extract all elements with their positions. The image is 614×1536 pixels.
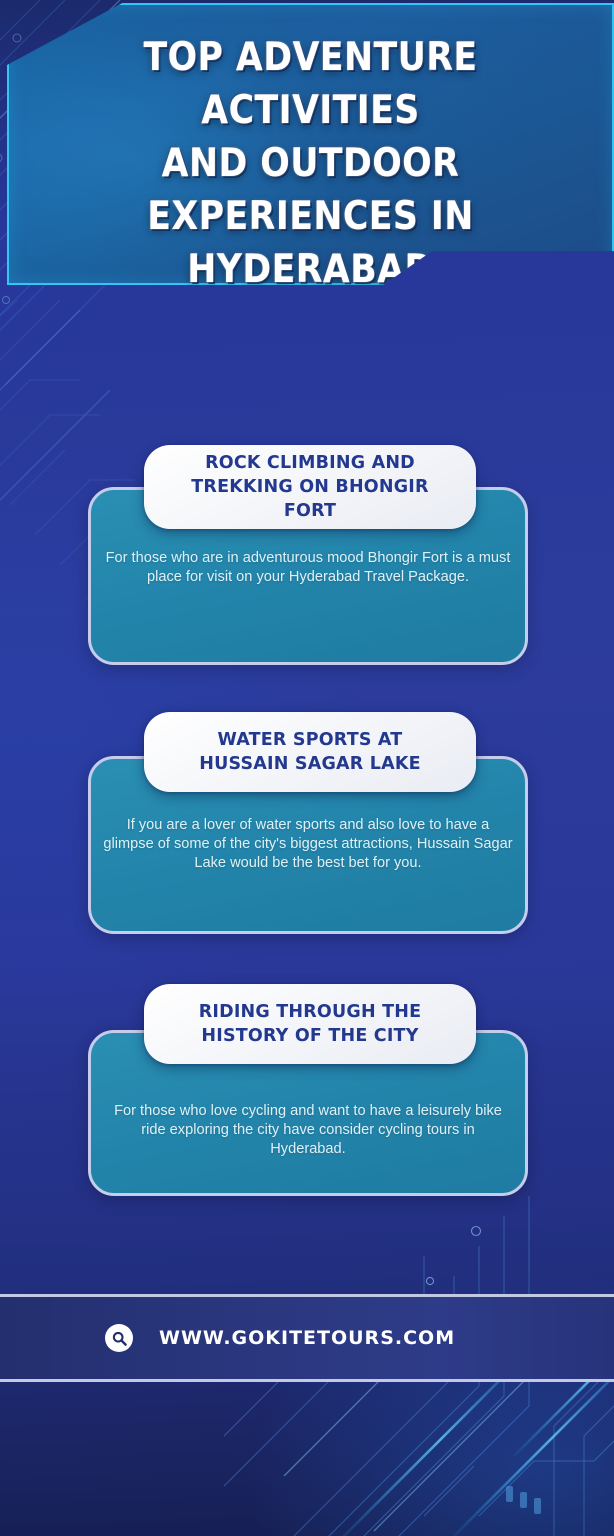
search-icon bbox=[105, 1324, 133, 1352]
card-title: RIDING THROUGH THE HISTORY OF THE CITY bbox=[189, 1000, 432, 1048]
infographic-page: TOP ADVENTURE ACTIVITIES AND OUTDOOR EXP… bbox=[0, 0, 614, 1536]
activity-card[interactable]: RIDING THROUGH THE HISTORY OF THE CITY F… bbox=[88, 1030, 528, 1196]
activity-card[interactable]: ROCK CLIMBING AND TREKKING ON BHONGIR FO… bbox=[88, 487, 528, 665]
card-title: WATER SPORTS AT HUSSAIN SAGAR LAKE bbox=[189, 728, 431, 776]
footer-content: WWW.GOKITETOURS.COM bbox=[0, 1324, 455, 1352]
card-title-plate: ROCK CLIMBING AND TREKKING ON BHONGIR FO… bbox=[144, 445, 476, 529]
card-description: For those who are in adventurous mood Bh… bbox=[102, 549, 514, 587]
card-title-plate: RIDING THROUGH THE HISTORY OF THE CITY bbox=[144, 984, 476, 1064]
card-title: ROCK CLIMBING AND TREKKING ON BHONGIR FO… bbox=[181, 451, 438, 523]
header-banner: TOP ADVENTURE ACTIVITIES AND OUTDOOR EXP… bbox=[7, 3, 614, 285]
card-description: For those who love cycling and want to h… bbox=[102, 1102, 514, 1159]
website-url[interactable]: WWW.GOKITETOURS.COM bbox=[159, 1327, 455, 1349]
card-description: If you are a lover of water sports and a… bbox=[102, 816, 514, 873]
page-title: TOP ADVENTURE ACTIVITIES AND OUTDOOR EXP… bbox=[42, 31, 579, 296]
footer-bar: WWW.GOKITETOURS.COM bbox=[0, 1294, 614, 1382]
card-title-plate: WATER SPORTS AT HUSSAIN SAGAR LAKE bbox=[144, 712, 476, 792]
activity-card[interactable]: WATER SPORTS AT HUSSAIN SAGAR LAKE If yo… bbox=[88, 756, 528, 934]
